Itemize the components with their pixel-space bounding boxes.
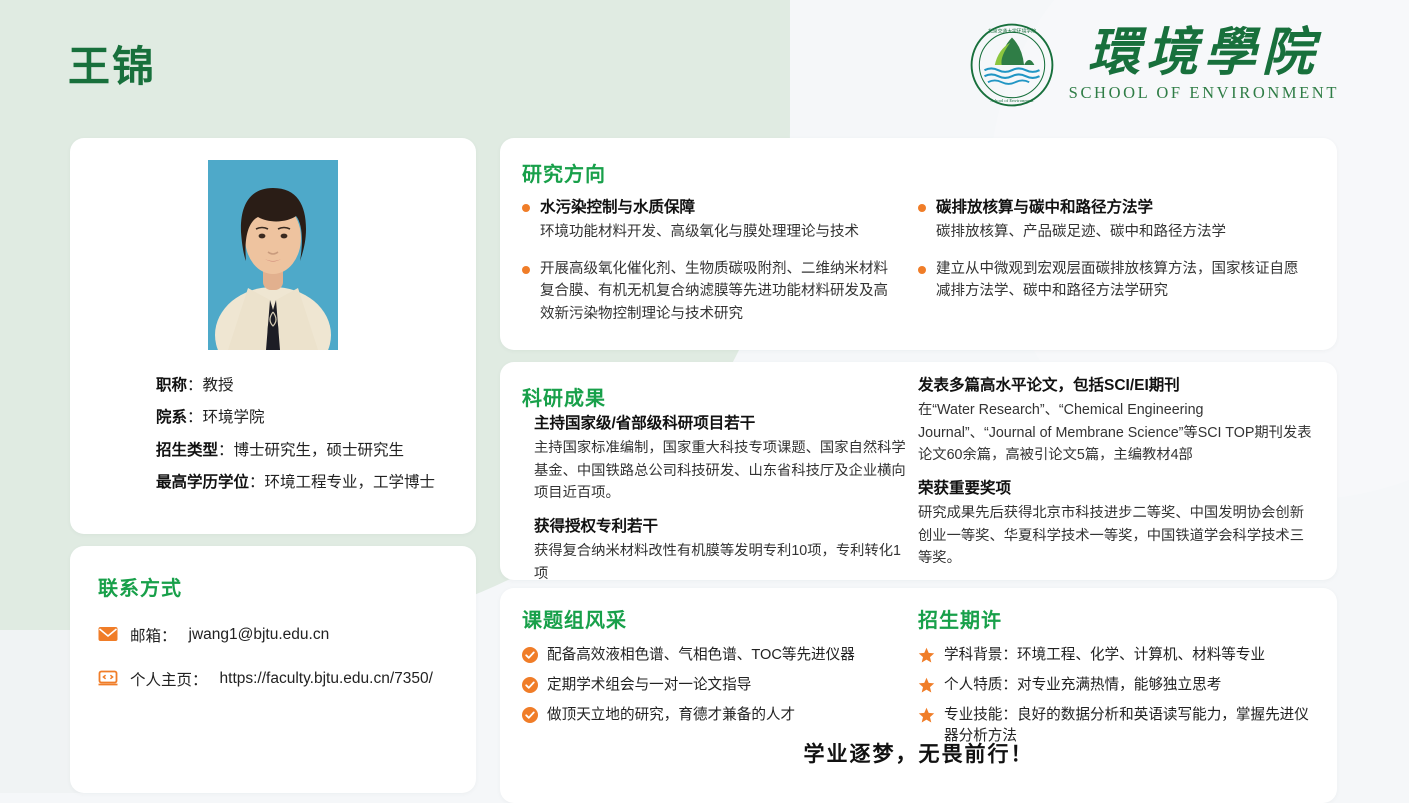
star-icon bbox=[918, 647, 935, 664]
research-item-detail: 开展高级氧化催化剂、生物质碳吸附剂、二维纳米材料复合膜、有机无机复合纳滤膜等先进… bbox=[540, 258, 902, 325]
contact-email-label: 邮箱： bbox=[130, 624, 177, 646]
list-item: 建立从中微观到宏观层面碳排放核算方法，国家核证自愿减排方法学、碳中和路径方法学研… bbox=[918, 258, 1308, 303]
list-item: 水污染控制与水质保障 环境功能材料开发、高级氧化与膜处理理论与技术 bbox=[522, 196, 902, 244]
star-icon bbox=[918, 707, 935, 724]
admission-item-text: 个人特质：对专业充满热情，能够独立思考 bbox=[944, 675, 1221, 696]
research-left-column: 水污染控制与水质保障 环境功能材料开发、高级氧化与膜处理理论与技术 开展高级氧化… bbox=[522, 196, 902, 339]
bullet-dot-icon bbox=[522, 204, 530, 212]
admission-title: 招生期许 bbox=[918, 604, 1318, 633]
achievement-detail: 主持国家标准编制，国家重大科技专项课题、国家自然科学基金、中国铁路总公司科技研发… bbox=[534, 437, 912, 504]
contact-email-value[interactable]: jwang1@bjtu.edu.cn bbox=[189, 626, 330, 644]
team-item-text: 定期学术组会与一对一论文指导 bbox=[547, 675, 751, 696]
footer-slogan: 学业逐梦，无畏前行！ bbox=[500, 738, 1337, 768]
school-name-cn: 環境學院 bbox=[1088, 27, 1320, 82]
research-item-detail: 碳排放核算、产品碳足迹、碳中和路径方法学 bbox=[936, 221, 1308, 243]
info-label: 最高学历学位 bbox=[156, 474, 249, 491]
contact-homepage-value[interactable]: https://faculty.bjtu.edu.cn/7350/ bbox=[220, 670, 433, 688]
achievement-detail: 在“Water Research”、“Chemical Engineering … bbox=[918, 399, 1318, 466]
achievement-detail: 研究成果先后获得北京市科技进步二等奖、中国发明协会创新创业一等奖、华夏科学技术一… bbox=[918, 502, 1318, 569]
page-header: 王锦 北京交通大学环境学院 School of Environment 環境學院… bbox=[0, 0, 1409, 136]
info-row: 院系：环境学院 bbox=[156, 408, 458, 427]
check-circle-icon bbox=[522, 707, 538, 723]
research-right-column: 碳排放核算与碳中和路径方法学 碳排放核算、产品碳足迹、碳中和路径方法学 建立从中… bbox=[918, 196, 1308, 317]
team-section: 课题组风采 配备高效液相色谱、气相色谱、TOC等先进仪器 定期学术组会与一对一论… bbox=[522, 604, 912, 735]
contact-title: 联系方式 bbox=[98, 572, 182, 601]
info-label: 招生类型 bbox=[156, 442, 218, 459]
laptop-code-icon bbox=[98, 670, 118, 688]
info-row: 职称：教授 bbox=[156, 376, 458, 395]
achievement-heading: 发表多篇高水平论文，包括SCI/EI期刊 bbox=[918, 374, 1318, 397]
team-item-text: 做顶天立地的研究，育德才兼备的人才 bbox=[547, 705, 795, 726]
achievement-heading: 主持国家级/省部级科研项目若干 bbox=[534, 412, 912, 435]
contact-email-row[interactable]: 邮箱： jwang1@bjtu.edu.cn bbox=[98, 624, 329, 646]
info-value: 环境工程专业，工学博士 bbox=[265, 474, 436, 491]
contact-homepage-row[interactable]: 个人主页： https://faculty.bjtu.edu.cn/7350/ bbox=[98, 668, 433, 690]
info-sep: ： bbox=[218, 442, 234, 459]
admission-section: 招生期许 学科背景：环境工程、化学、计算机、材料等专业 个人特质：对专业充满热情… bbox=[918, 604, 1318, 757]
list-item: 个人特质：对专业充满热情，能够独立思考 bbox=[918, 675, 1318, 696]
team-admission-card: 课题组风采 配备高效液相色谱、气相色谱、TOC等先进仪器 定期学术组会与一对一论… bbox=[500, 588, 1337, 803]
bullet-dot-icon bbox=[918, 266, 926, 274]
check-circle-icon bbox=[522, 677, 538, 693]
info-sep: ： bbox=[187, 409, 203, 426]
info-row: 招生类型：博士研究生，硕士研究生 bbox=[156, 441, 458, 460]
info-row: 最高学历学位：环境工程专业，工学博士 bbox=[156, 473, 458, 492]
achievements-left-column: 主持国家级/省部级科研项目若干 主持国家标准编制，国家重大科技专项课题、国家自然… bbox=[534, 412, 912, 596]
school-emblem-icon: 北京交通大学环境学院 School of Environment bbox=[969, 22, 1055, 108]
research-item-heading: 碳排放核算与碳中和路径方法学 bbox=[936, 199, 1153, 216]
star-icon bbox=[918, 677, 935, 694]
contact-card: 联系方式 邮箱： jwang1@bjtu.edu.cn 个人主页： https:… bbox=[70, 546, 476, 793]
admission-item-text: 学科背景：环境工程、化学、计算机、材料等专业 bbox=[944, 645, 1265, 666]
research-directions-card: 研究方向 水污染控制与水质保障 环境功能材料开发、高级氧化与膜处理理论与技术 开… bbox=[500, 138, 1337, 350]
info-sep: ： bbox=[249, 474, 265, 491]
school-logo-text: 環境學院 SCHOOL OF ENVIRONMENT bbox=[1069, 27, 1339, 104]
list-item: 学科背景：环境工程、化学、计算机、材料等专业 bbox=[918, 645, 1318, 666]
list-item: 定期学术组会与一对一论文指导 bbox=[522, 675, 912, 696]
profile-card: 职称：教授 院系：环境学院 招生类型：博士研究生，硕士研究生 最高学历学位：环境… bbox=[70, 138, 476, 534]
info-label: 院系 bbox=[156, 409, 187, 426]
achievements-right-column: 发表多篇高水平论文，包括SCI/EI期刊 在“Water Research”、“… bbox=[918, 374, 1318, 580]
list-item: 配备高效液相色谱、气相色谱、TOC等先进仪器 bbox=[522, 645, 912, 666]
list-item: 做顶天立地的研究，育德才兼备的人才 bbox=[522, 705, 912, 726]
achievement-heading: 获得授权专利若干 bbox=[534, 515, 912, 538]
contact-homepage-label: 个人主页： bbox=[130, 668, 208, 690]
page-title: 王锦 bbox=[68, 46, 156, 88]
achievement-detail: 获得复合纳米材料改性有机膜等发明专利10项，专利转化1项 bbox=[534, 540, 912, 585]
achievement-heading: 荣获重要奖项 bbox=[918, 477, 1318, 500]
info-sep: ： bbox=[187, 377, 203, 394]
info-label: 职称 bbox=[156, 377, 187, 394]
list-item: 开展高级氧化催化剂、生物质碳吸附剂、二维纳米材料复合膜、有机无机复合纳滤膜等先进… bbox=[522, 258, 902, 325]
research-item-heading: 水污染控制与水质保障 bbox=[540, 199, 695, 216]
info-value: 博士研究生，硕士研究生 bbox=[234, 442, 405, 459]
info-value: 教授 bbox=[203, 377, 234, 394]
info-value: 环境学院 bbox=[203, 409, 265, 426]
research-item-detail: 环境功能材料开发、高级氧化与膜处理理论与技术 bbox=[540, 221, 902, 243]
research-item-detail: 建立从中微观到宏观层面碳排放核算方法，国家核证自愿减排方法学、碳中和路径方法学研… bbox=[936, 258, 1308, 303]
bullet-dot-icon bbox=[918, 204, 926, 212]
school-name-en: SCHOOL OF ENVIRONMENT bbox=[1069, 83, 1339, 103]
research-title: 研究方向 bbox=[522, 158, 606, 187]
school-logo: 北京交通大学环境学院 School of Environment 環境學院 SC… bbox=[969, 22, 1339, 108]
svg-text:School of Environment: School of Environment bbox=[990, 99, 1034, 104]
team-item-text: 配备高效液相色谱、气相色谱、TOC等先进仪器 bbox=[547, 645, 855, 666]
team-title: 课题组风采 bbox=[522, 604, 912, 633]
check-circle-icon bbox=[522, 647, 538, 663]
list-item: 碳排放核算与碳中和路径方法学 碳排放核算、产品碳足迹、碳中和路径方法学 bbox=[918, 196, 1308, 244]
bullet-dot-icon bbox=[522, 266, 530, 274]
avatar bbox=[208, 160, 338, 350]
profile-info-list: 职称：教授 院系：环境学院 招生类型：博士研究生，硕士研究生 最高学历学位：环境… bbox=[156, 376, 458, 506]
achievements-card: 科研成果 主持国家级/省部级科研项目若干 主持国家标准编制，国家重大科技专项课题… bbox=[500, 362, 1337, 580]
envelope-icon bbox=[98, 626, 118, 644]
achievements-title: 科研成果 bbox=[522, 382, 606, 411]
